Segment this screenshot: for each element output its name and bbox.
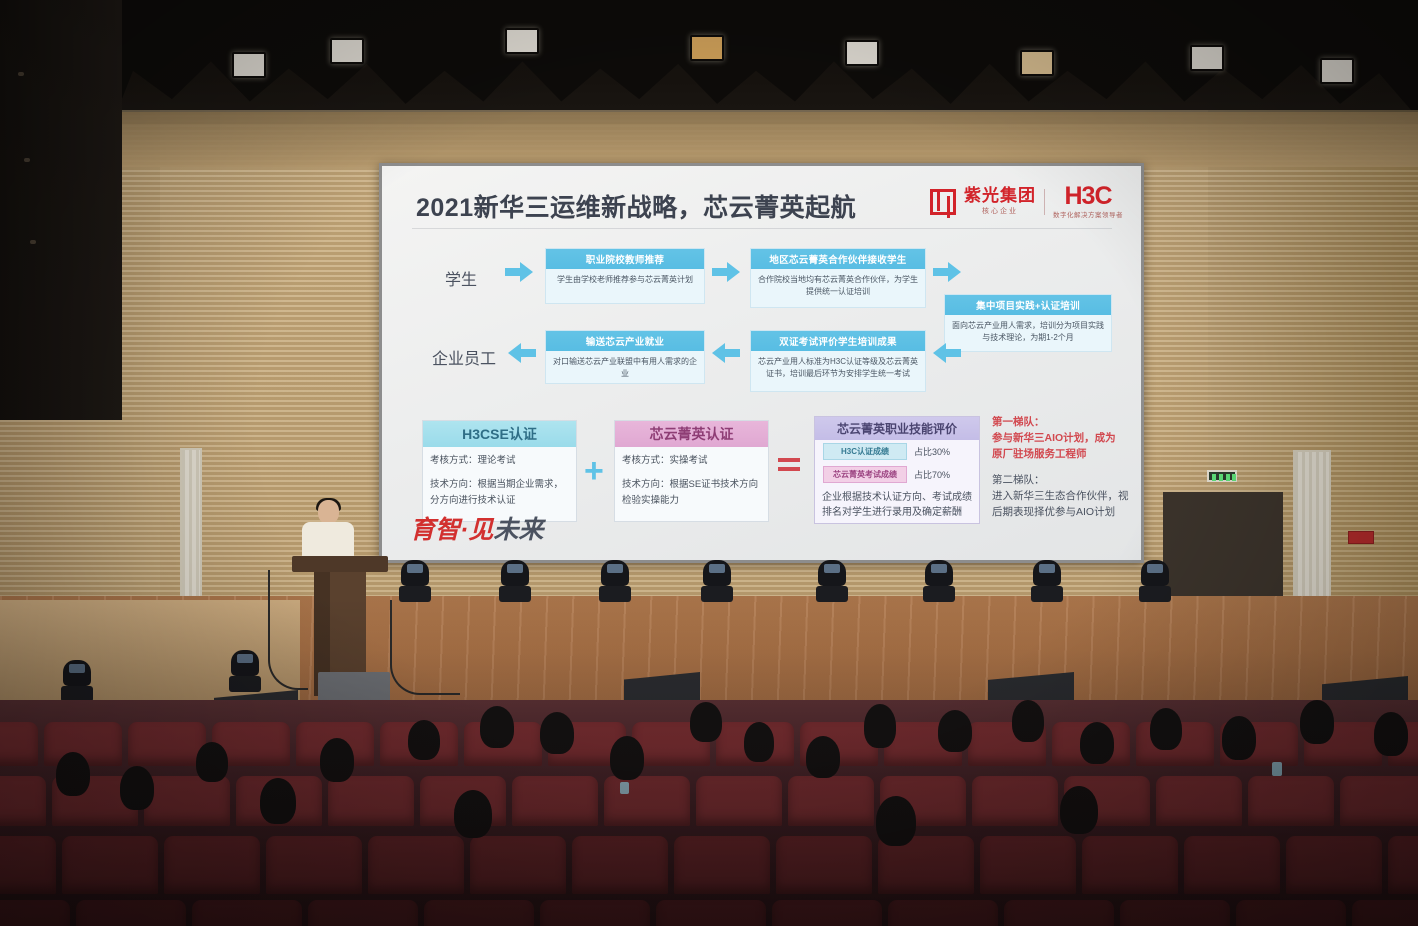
flow-box-4-body: 芯云产业用人标准为H3C认证等级及芯云菁英证书，培训最后环节为安排学生统一考试	[751, 351, 925, 384]
audience-head	[1080, 722, 1114, 764]
arrow-right-icon	[505, 262, 533, 282]
audience-head	[864, 704, 896, 748]
equals-operator-icon	[778, 458, 800, 476]
audience-phone-screen	[1272, 762, 1282, 776]
arrow-left-icon	[933, 343, 961, 363]
wall-fleck	[30, 240, 36, 244]
wall-fleck	[24, 158, 30, 162]
evaluation-percent-xinyun: 占比70%	[914, 468, 950, 481]
arrow-left-icon	[712, 343, 740, 363]
wall-info-display	[1207, 470, 1237, 482]
presenter	[300, 500, 356, 562]
tier1-line1: 参与新华三AIO计划，成为	[992, 430, 1116, 446]
stage-light-fixture	[690, 35, 724, 61]
stage-cable	[268, 570, 308, 690]
evaluation-chip-xinyun: 芯云菁英考试成绩	[823, 466, 907, 483]
flow-box-1: 职业院校教师推荐 学生由学校老师推荐参与芯云菁英计划	[545, 248, 705, 304]
moving-head-light	[815, 560, 849, 604]
audience-head	[260, 778, 296, 824]
logo-brand-cn-sub: 核心企业	[982, 206, 1018, 216]
evaluation-panel: 芯云菁英职业技能评价 H3C认证成绩 占比30% 芯云菁英考试成绩 占比70% …	[814, 416, 980, 524]
plus-operator-icon: +	[584, 454, 604, 488]
unisplendour-wordmark: 紫光集团 核心企业	[964, 187, 1036, 216]
projection-screen: 2021新华三运维新战略，芯云菁英起航 紫光集团 核心企业 H3C 数字化解决方…	[379, 163, 1144, 563]
audience-phone-screen	[620, 782, 629, 794]
moving-head-light	[60, 660, 94, 704]
evaluation-title: 芯云菁英职业技能评价	[815, 417, 979, 440]
flow-box-3-title: 集中项目实践+认证培训	[945, 295, 1111, 315]
evaluation-note: 企业根据技术认证方向、考试成绩排名对学生进行录用及确定薪酬	[815, 486, 979, 526]
unisplendour-logo-icon	[930, 189, 956, 215]
presenter-head	[318, 500, 339, 524]
evaluation-row: 芯云菁英考试成绩 占比70%	[815, 463, 979, 486]
audience-head	[196, 742, 228, 782]
card-h3cse: H3CSE认证 考核方式：理论考试 技术方向：根据当期企业需求，分方向进行技术认…	[422, 420, 577, 522]
flow-box-2-title: 地区芯云菁英合作伙伴接收学生	[751, 249, 925, 269]
moving-head-light	[1030, 560, 1064, 604]
exit-sign	[1348, 531, 1374, 544]
moving-head-light	[228, 650, 262, 694]
arrow-right-icon	[933, 262, 961, 282]
card-h3cse-line2: 技术方向：根据当期企业需求，分方向进行技术认证	[430, 477, 569, 509]
moving-head-light	[598, 560, 632, 604]
tier1-head: 第一梯队：	[992, 414, 1045, 430]
slide-slogan: 育智·见未来	[410, 510, 543, 546]
flow-box-1-title: 职业院校教师推荐	[546, 249, 704, 269]
flow-box-2: 地区芯云菁英合作伙伴接收学生 合作院校当地均有芯云菁英合作伙伴，为学生提供统一认…	[750, 248, 926, 308]
seat-row	[0, 900, 1418, 926]
presentation-slide: 2021新华三运维新战略，芯云菁英起航 紫光集团 核心企业 H3C 数字化解决方…	[382, 166, 1141, 560]
title-divider	[412, 228, 1112, 229]
audience-head	[1374, 712, 1408, 756]
card-xinyun-line2: 技术方向：根据SE证书技术方向检验实操能力	[622, 477, 761, 509]
flow-box-5-body: 对口输送芯云产业联盟中有用人需求的企业	[546, 351, 704, 384]
audience-head	[938, 710, 972, 752]
audience-head	[408, 720, 440, 760]
tier1-line2: 原厂驻场服务工程师	[992, 446, 1087, 462]
stage-light-fixture	[1020, 50, 1054, 76]
audience-head	[744, 722, 774, 762]
brand-logo: 紫光集团 核心企业 H3C 数字化解决方案领导者	[930, 184, 1123, 219]
audience-head	[806, 736, 840, 778]
tier2-head: 第二梯队：	[992, 472, 1045, 488]
slogan-red: 育智·见	[410, 516, 493, 544]
stage-light-fixture	[845, 40, 879, 66]
audience-head	[1012, 700, 1044, 742]
audience-head	[1060, 786, 1098, 834]
stage-light-fixture	[232, 52, 266, 78]
stage-light-fixture	[505, 28, 539, 54]
card-xinyun-line1: 考核方式：实操考试	[622, 453, 761, 469]
flow-box-3-body: 面向芯云产业用人需求，培训分为项目实践与技术理论，为期1-2个月	[945, 315, 1111, 348]
audience-head	[1222, 716, 1256, 760]
flow-box-2-body: 合作院校当地均有芯云菁英合作伙伴，为学生提供统一认证培训	[751, 269, 925, 302]
stage-light-fixture	[1190, 45, 1224, 71]
audience-head	[1150, 708, 1182, 750]
flow-box-4: 双证考试评价学生培训成果 芯云产业用人标准为H3C认证等级及芯云菁英证书，培训最…	[750, 330, 926, 392]
moving-head-light	[498, 560, 532, 604]
audience-head	[1300, 700, 1334, 744]
flow-box-1-body: 学生由学校老师推荐参与芯云菁英计划	[546, 269, 704, 291]
moving-head-light	[700, 560, 734, 604]
moving-head-light	[1138, 560, 1172, 604]
audience-head	[480, 706, 514, 748]
seat-row	[0, 776, 1418, 826]
logo-h3c: H3C	[1064, 184, 1111, 209]
moving-head-light	[398, 560, 432, 604]
stage-light-fixture	[1320, 58, 1354, 84]
audience-head	[690, 702, 722, 742]
slide-title: 2021新华三运维新战略，芯云菁英起航	[416, 188, 856, 224]
logo-divider	[1044, 189, 1045, 215]
card-h3cse-title: H3CSE认证	[423, 421, 576, 447]
flow-box-4-title: 双证考试评价学生培训成果	[751, 331, 925, 351]
audience-head	[876, 796, 916, 846]
flow-label-student: 学生	[445, 266, 477, 290]
evaluation-row: H3C认证成绩 占比30%	[815, 440, 979, 463]
audience-head	[540, 712, 574, 754]
flow-box-3: 集中项目实践+认证培训 面向芯云产业用人需求，培训分为项目实践与技术理论，为期1…	[944, 294, 1112, 352]
card-xinyun: 芯云菁英认证 考核方式：实操考试 技术方向：根据SE证书技术方向检验实操能力	[614, 420, 769, 522]
arrow-left-icon	[508, 343, 536, 363]
logo-brand-cn: 紫光集团	[964, 187, 1036, 206]
stage-light-fixture	[330, 38, 364, 64]
right-exit-door[interactable]	[1293, 450, 1331, 605]
card-xinyun-body: 考核方式：实操考试 技术方向：根据SE证书技术方向检验实操能力	[615, 447, 768, 523]
seat-row	[0, 836, 1418, 894]
audience-head	[610, 736, 644, 780]
left-dark-wall	[0, 0, 122, 420]
left-exit-door[interactable]	[180, 448, 202, 598]
tier2-line2: 后期表现择优参与AIO计划	[992, 504, 1115, 520]
audience-head	[454, 790, 492, 838]
audience-head	[120, 766, 154, 810]
stage-cable	[390, 600, 460, 695]
flow-box-5-title: 输送芯云产业就业	[546, 331, 704, 351]
slogan-gray: 未来	[493, 516, 543, 544]
wall-fleck	[18, 72, 24, 76]
h3c-wordmark: H3C 数字化解决方案领导者	[1053, 184, 1123, 219]
moving-head-light	[922, 560, 956, 604]
card-xinyun-title: 芯云菁英认证	[615, 421, 768, 447]
arrow-right-icon	[712, 262, 740, 282]
audience-head	[320, 738, 354, 782]
evaluation-chip-h3c: H3C认证成绩	[823, 443, 907, 460]
proscenium	[122, 112, 1418, 167]
flow-box-5: 输送芯云产业就业 对口输送芯云产业联盟中有用人需求的企业	[545, 330, 705, 384]
logo-h3c-sub: 数字化解决方案领导者	[1053, 209, 1123, 219]
auditorium-scene: 2021新华三运维新战略，芯云菁英起航 紫光集团 核心企业 H3C 数字化解决方…	[0, 0, 1418, 926]
tier2-line1: 进入新华三生态合作伙伴，视	[992, 488, 1129, 504]
evaluation-percent-h3c: 占比30%	[914, 445, 950, 458]
flow-label-employee: 企业员工	[432, 345, 496, 369]
card-h3cse-line1: 考核方式：理论考试	[430, 453, 569, 469]
audience-head	[56, 752, 90, 796]
